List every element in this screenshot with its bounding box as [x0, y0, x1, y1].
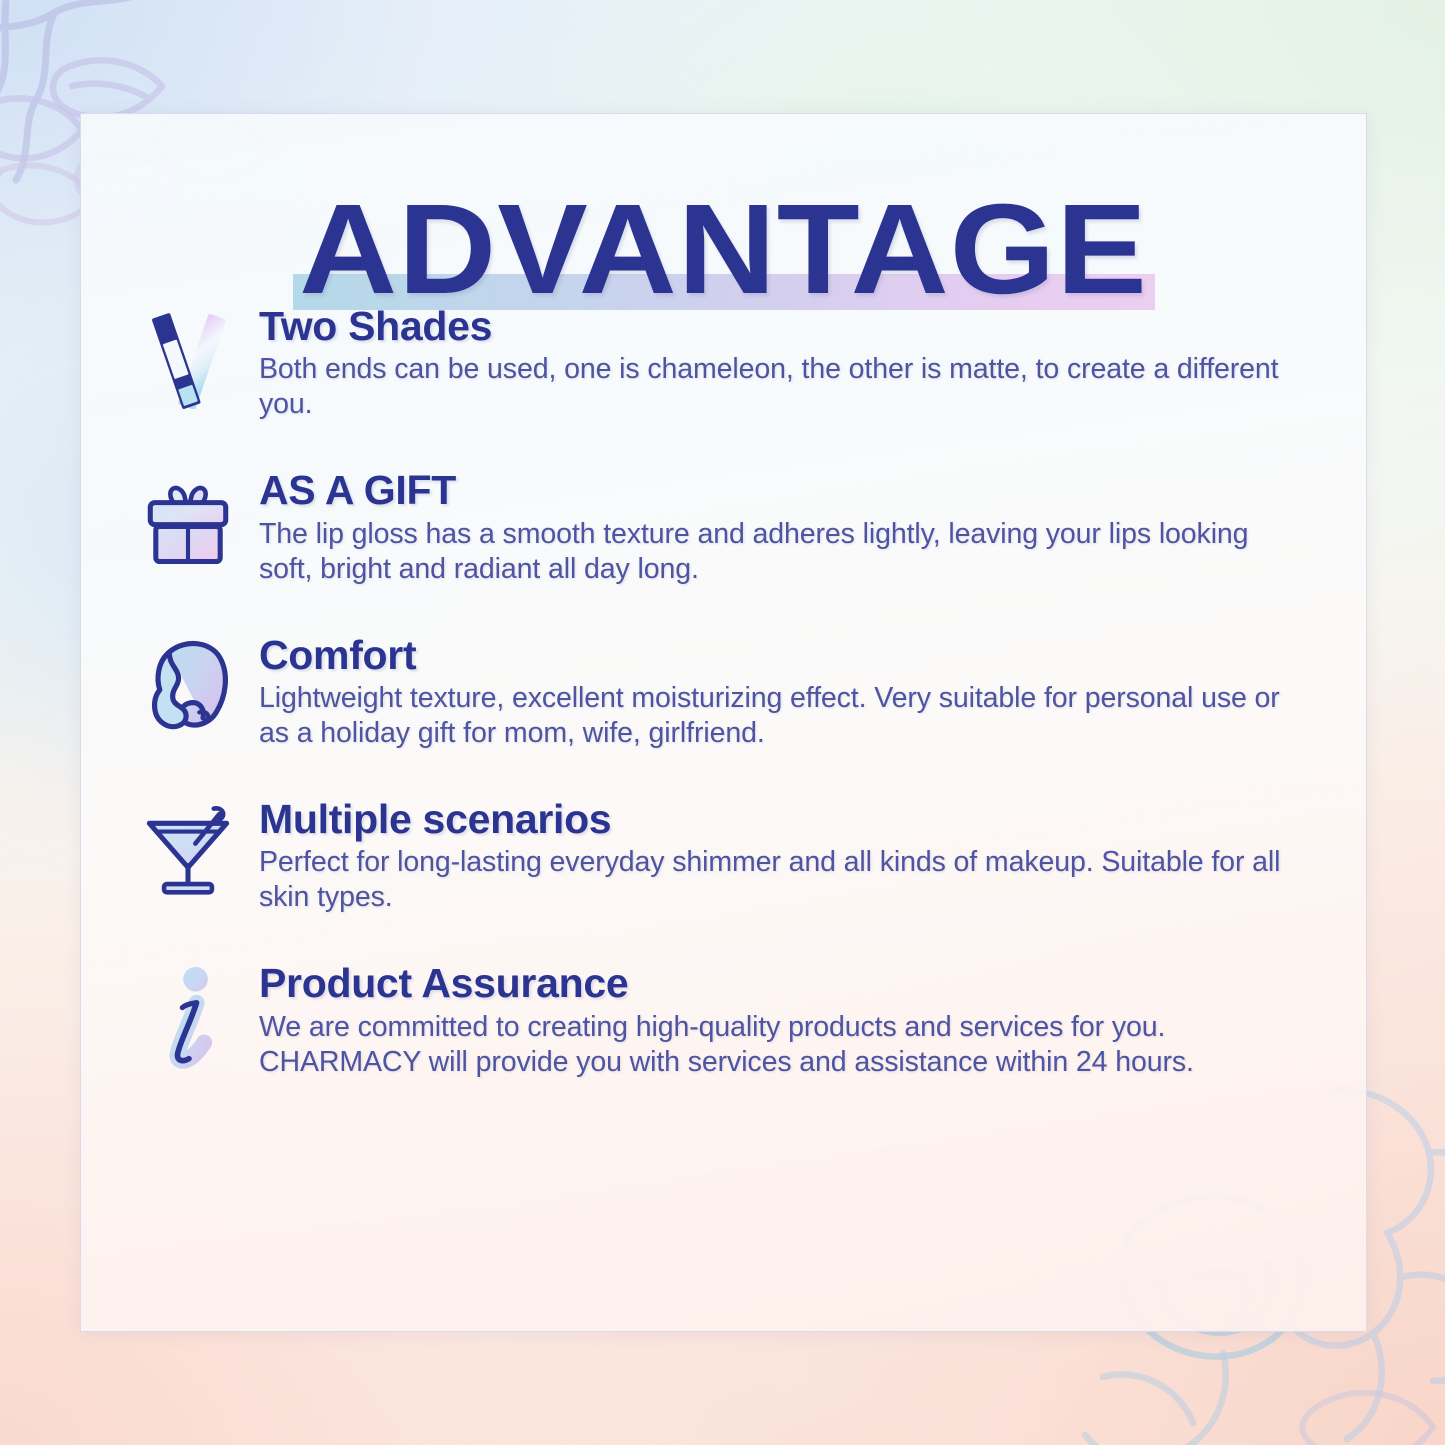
advantage-card: ADVANTAGE: [80, 113, 1367, 1332]
cocktail-glass-icon: [137, 795, 239, 905]
gift-box-icon: [137, 466, 239, 576]
infographic-page: ADVANTAGE: [0, 0, 1445, 1445]
crossed-lipsticks-icon: [137, 302, 239, 412]
feature-title: AS A GIFT: [259, 468, 1300, 512]
feature-text-block: Product Assurance We are committed to cr…: [259, 959, 1300, 1079]
feature-item-comfort: Comfort Lightweight texture, excellent m…: [137, 631, 1300, 751]
feature-title: Two Shades: [259, 304, 1300, 348]
feature-description: We are committed to creating high-qualit…: [259, 1010, 1300, 1080]
feature-title: Product Assurance: [259, 961, 1300, 1005]
info-italic-i-icon: [137, 959, 239, 1075]
feature-text-block: Comfort Lightweight texture, excellent m…: [259, 631, 1300, 751]
feature-list: Two Shades Both ends can be used, one is…: [81, 300, 1366, 1080]
feature-description: Both ends can be used, one is chameleon,…: [259, 352, 1300, 422]
woman-profile-icon: [137, 631, 239, 741]
feature-title: Multiple scenarios: [259, 797, 1300, 841]
feature-description: Perfect for long-lasting everyday shimme…: [259, 845, 1300, 915]
feature-item-as-a-gift: AS A GIFT The lip gloss has a smooth tex…: [137, 466, 1300, 586]
feature-text-block: AS A GIFT The lip gloss has a smooth tex…: [259, 466, 1300, 586]
feature-text-block: Two Shades Both ends can be used, one is…: [259, 302, 1300, 422]
feature-description: Lightweight texture, excellent moisturiz…: [259, 681, 1300, 751]
feature-item-two-shades: Two Shades Both ends can be used, one is…: [137, 302, 1300, 422]
page-title-block: ADVANTAGE: [81, 114, 1366, 300]
feature-item-product-assurance: Product Assurance We are committed to cr…: [137, 959, 1300, 1079]
feature-description: The lip gloss has a smooth texture and a…: [259, 517, 1300, 587]
feature-text-block: Multiple scenarios Perfect for long-last…: [259, 795, 1300, 915]
feature-item-multiple-scenarios: Multiple scenarios Perfect for long-last…: [137, 795, 1300, 915]
feature-title: Comfort: [259, 633, 1300, 677]
page-title: ADVANTAGE: [42, 186, 1404, 314]
